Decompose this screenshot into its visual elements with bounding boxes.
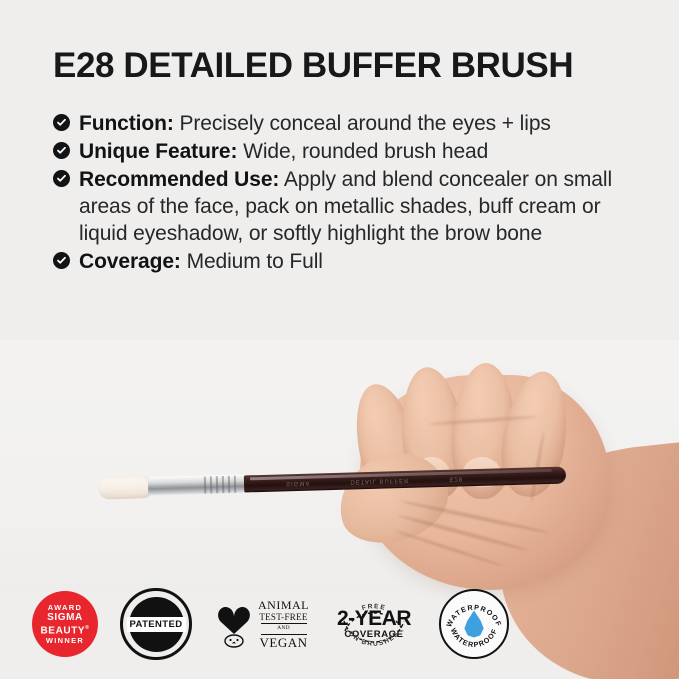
award-brand-line1: SIGMA xyxy=(47,612,83,623)
bunny-heart-icon xyxy=(214,600,254,648)
trademark-symbol: ® xyxy=(85,625,89,631)
badge-sigma-beauty-award-winner: AWARD SIGMA BEAUTY® WINNER xyxy=(32,591,98,657)
vegan-text: ANIMAL TEST-FREE AND VEGAN xyxy=(258,599,309,649)
brush-ferrule xyxy=(148,474,248,496)
badge-waterproof: WATERPROOF WATERPROOF xyxy=(439,589,509,659)
badge-patented: PATENTED xyxy=(120,588,192,660)
two-year-bottom-arc: ON BRUSHES xyxy=(347,630,401,648)
svg-text:ON BRUSHES: ON BRUSHES xyxy=(347,630,401,648)
list-item-label: Unique Feature: xyxy=(79,140,237,163)
vegan-line2: TEST-FREE xyxy=(258,613,309,622)
two-year-top-arc: FREE xyxy=(361,603,387,612)
check-circle-icon xyxy=(53,252,70,269)
check-circle-icon xyxy=(53,170,70,187)
check-circle-icon xyxy=(53,142,70,159)
list-item-label: Coverage: xyxy=(79,250,181,273)
brush-head xyxy=(98,475,153,499)
list-item-text: Function: Precisely conceal around the e… xyxy=(79,112,551,135)
award-bottom-arc: WINNER xyxy=(46,636,84,645)
list-item: Coverage: Medium to Full xyxy=(53,248,643,275)
handle-brand: SIGMA xyxy=(286,480,311,487)
feature-list: Function: Precisely conceal around the e… xyxy=(53,110,643,276)
list-item-value: Wide, rounded brush head xyxy=(243,140,488,163)
award-brand: SIGMA BEAUTY® xyxy=(40,612,89,636)
page-title: E28 DETAILED BUFFER BRUSH xyxy=(53,46,653,86)
svg-text:FREE: FREE xyxy=(361,603,387,612)
badge-two-year-coverage: FREE ON BRUSHES 2-YEAR COVERAGE xyxy=(331,591,417,657)
list-item-label: Recommended Use: xyxy=(79,168,279,191)
handle-model-code: E28 xyxy=(449,475,463,481)
product-infographic: E28 DETAILED BUFFER BRUSH Function: Prec… xyxy=(0,0,679,679)
patented-disc: PATENTED xyxy=(129,597,184,652)
award-brand-line2: BEAUTY xyxy=(40,625,85,636)
list-item: Unique Feature: Wide, rounded brush head xyxy=(53,138,643,165)
list-item-text: Unique Feature: Wide, rounded brush head xyxy=(79,140,488,163)
list-item-text: Recommended Use: Apply and blend conceal… xyxy=(79,168,612,245)
list-item: Function: Precisely conceal around the e… xyxy=(53,110,643,137)
vegan-line3: AND xyxy=(258,626,309,632)
two-year-arc-frame: FREE ON BRUSHES xyxy=(331,591,417,657)
list-item-label: Function: xyxy=(79,112,174,135)
list-item-value: Medium to Full xyxy=(187,250,323,273)
vegan-line1: ANIMAL xyxy=(258,599,309,611)
badge-row: AWARD SIGMA BEAUTY® WINNER PATENTED xyxy=(32,588,509,660)
divider xyxy=(261,623,307,624)
brush-handle: SIGMA DETAIL BUFFER E28 xyxy=(244,466,566,492)
list-item-value: Precisely conceal around the eyes + lips xyxy=(180,112,551,135)
list-item: Recommended Use: Apply and blend conceal… xyxy=(53,166,643,247)
patented-label: PATENTED xyxy=(127,617,186,632)
badge-animal-test-free-vegan: ANIMAL TEST-FREE AND VEGAN xyxy=(214,599,309,649)
vegan-line4: VEGAN xyxy=(258,636,309,649)
check-circle-icon xyxy=(53,114,70,131)
list-item-text: Coverage: Medium to Full xyxy=(79,250,323,273)
award-top-arc: AWARD xyxy=(48,603,82,612)
handle-model-name: DETAIL BUFFER xyxy=(350,477,409,485)
